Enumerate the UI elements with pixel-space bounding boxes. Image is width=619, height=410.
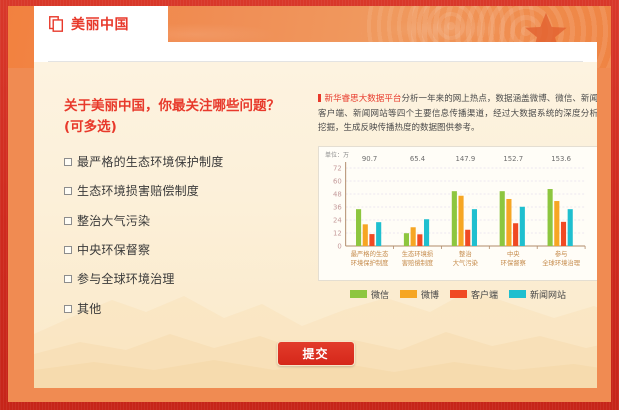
chart-total-label: 65.4 [410,155,426,163]
chart-bar [465,230,470,246]
chart-x-tick-label: 中央 [507,249,520,258]
survey-option-label: 生态环境损害赔偿制度 [77,184,199,198]
survey-option-label: 最严格的生态环境保护制度 [77,155,223,169]
content-area: 关于美丽中国，你最关注哪些问题？(可多选) 最严格的生态环境保护制度 生态环境损… [34,62,597,388]
survey-option-5[interactable]: 其他 [64,302,294,316]
chart-y-tick-label: 12 [333,229,342,237]
chart-bar [568,209,573,246]
checkbox-icon[interactable] [64,158,72,166]
survey-option-4[interactable]: 参与全球环境治理 [64,272,294,286]
checkbox-icon[interactable] [64,187,72,195]
content-card: 关于美丽中国，你最关注哪些问题？(可多选) 最严格的生态环境保护制度 生态环境损… [34,42,597,388]
analysis-column: 新华睿思大数据平台分析一年来的网上热点，数据涵盖微博、微信、新闻客户端、新闻网站… [318,92,597,301]
chart-total-label: 147.9 [456,155,476,163]
chart-y-tick-label: 36 [333,203,342,211]
legend-item: 微博 [400,288,439,301]
logo-title: 美丽中国 [71,14,129,34]
chart-bar [417,234,422,246]
page-title: 关于美丽中国，你最关注哪些问题？(可多选) [64,96,294,138]
checkbox-icon[interactable] [64,275,72,283]
chart-x-tick-label: 生态环境损 [402,249,434,258]
chart-bar [363,224,368,246]
survey-option-label: 其他 [77,302,101,316]
chart-unit-label: 单位：万 [325,150,349,159]
legend-swatch-icon [450,290,467,298]
legend-swatch-icon [350,290,367,298]
red-bar-marker [318,94,321,102]
logo-tab[interactable]: 美丽中国 [34,6,168,42]
survey-option-1[interactable]: 生态环境损害赔偿制度 [64,184,294,198]
chart-x-tick-label: 环境保护制度 [351,258,389,267]
survey-option-0[interactable]: 最严格的生态环境保护制度 [64,155,294,169]
survey-option-label: 整治大气污染 [77,214,150,228]
legend-item: 客户端 [450,288,498,301]
bar-chart: 单位：万 012243648607290.7最严格的生态环境保护制度65.4生态… [318,146,597,281]
legend-item: 微信 [350,288,389,301]
chart-y-tick-label: 48 [333,190,342,198]
chart-total-label: 90.7 [362,155,377,163]
chart-bar [548,189,553,246]
chart-x-tick-label: 参与 [555,249,568,258]
legend-label: 客户端 [471,288,498,301]
legend-label: 新闻网站 [530,288,566,301]
chart-x-tick-label: 大气污染 [453,258,479,267]
survey-option-label: 中央环保督察 [77,243,150,257]
survey-option-label: 参与全球环境治理 [77,272,175,286]
chart-canvas: 012243648607290.7最严格的生态环境保护制度65.4生态环境损害赔… [323,152,591,276]
chart-bar [411,227,416,246]
legend-item: 新闻网站 [509,288,566,301]
submit-area: 提交 [34,341,597,366]
chart-bar [452,191,457,246]
survey-option-2[interactable]: 整治大气污染 [64,214,294,228]
chart-bar [369,234,374,246]
chart-total-label: 153.6 [551,155,571,163]
chart-legend: 微信微博客户端新闻网站 [318,288,597,301]
chart-x-tick-label: 全球环境治理 [542,258,580,267]
chart-y-tick-label: 60 [333,177,342,185]
analysis-description: 新华睿思大数据平台分析一年来的网上热点，数据涵盖微博、微信、新闻客户端、新闻网站… [318,92,597,136]
chart-bar [500,191,505,246]
chart-x-tick-label: 整治 [459,249,472,258]
chart-bar [404,233,409,246]
checkbox-icon[interactable] [64,217,72,225]
chart-bar [424,219,429,246]
document-copy-icon [49,16,64,32]
survey-option-3[interactable]: 中央环保督察 [64,243,294,257]
chart-x-tick-label: 环保督察 [501,258,527,267]
chart-bar [554,201,559,246]
chart-bar [376,222,381,246]
analysis-source: 新华睿思大数据平台 [325,94,402,104]
chart-y-tick-label: 72 [333,164,342,172]
chart-bar [506,199,511,246]
submit-button[interactable]: 提交 [277,341,355,366]
legend-swatch-icon [509,290,526,298]
legend-swatch-icon [400,290,417,298]
chart-bar [520,207,525,246]
chart-y-tick-label: 24 [333,216,342,224]
chart-bar [513,223,518,246]
checkbox-icon[interactable] [64,246,72,254]
chart-bar [561,222,566,246]
chart-total-label: 152.7 [503,155,523,163]
chart-y-tick-label: 0 [337,242,341,250]
checkbox-icon[interactable] [64,305,72,313]
legend-label: 微博 [421,288,439,301]
chart-bar [458,196,463,246]
survey-question-column: 关于美丽中国，你最关注哪些问题？(可多选) 最严格的生态环境保护制度 生态环境损… [64,96,294,331]
chart-bar [472,209,477,246]
chart-x-tick-label: 害赔偿制度 [402,258,434,267]
legend-label: 微信 [371,288,389,301]
page-container: 美丽中国 关于美丽中国，你最关注哪些问题？(可多选) 最严格的生态环境保护制度 … [8,6,611,402]
chart-x-tick-label: 最严格的生态 [351,249,389,258]
chart-bar [356,209,361,246]
